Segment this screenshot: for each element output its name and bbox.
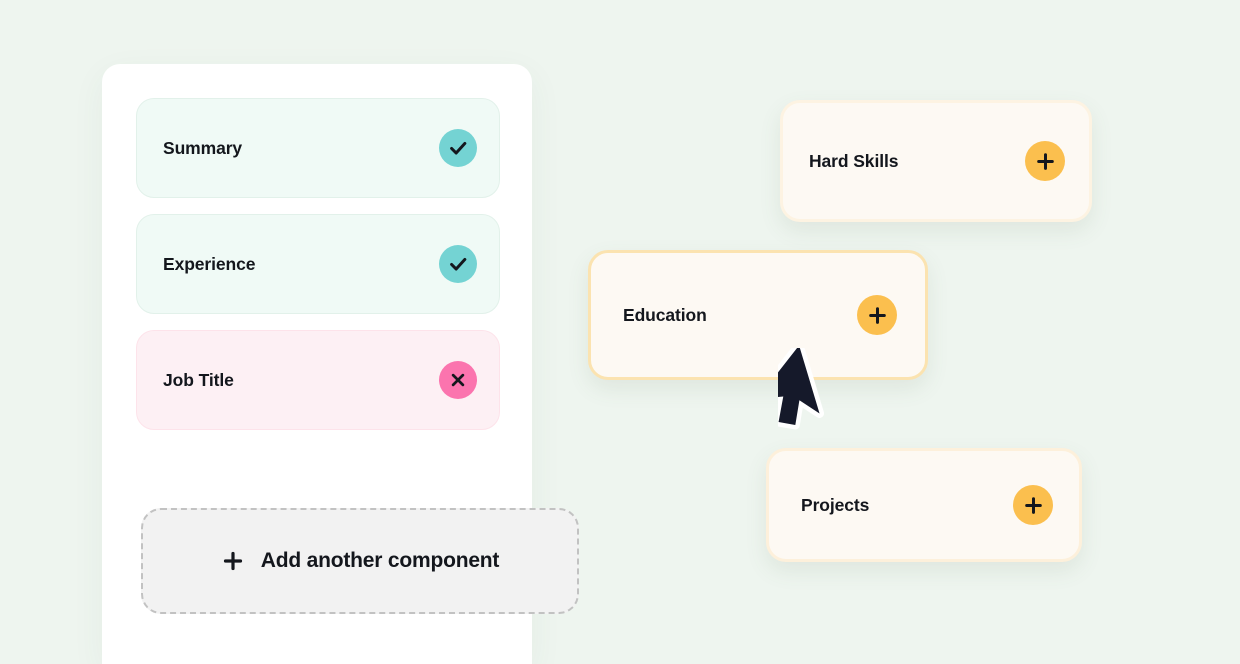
- available-component-label: Hard Skills: [809, 151, 898, 172]
- plus-icon[interactable]: [857, 295, 897, 335]
- check-icon[interactable]: [439, 245, 477, 283]
- resume-component-label: Job Title: [163, 370, 234, 391]
- resume-component-label: Experience: [163, 254, 255, 275]
- resume-component-label: Summary: [163, 138, 242, 159]
- add-another-component-button[interactable]: Add another component: [141, 508, 579, 614]
- plus-icon[interactable]: [1025, 141, 1065, 181]
- available-component-label: Education: [623, 305, 707, 326]
- plus-icon[interactable]: [1013, 485, 1053, 525]
- add-another-component-label: Add another component: [261, 549, 499, 573]
- available-component-label: Projects: [801, 495, 869, 516]
- close-icon[interactable]: [439, 361, 477, 399]
- plus-icon: [221, 549, 245, 573]
- available-component-projects[interactable]: Projects: [766, 448, 1082, 562]
- resume-component-summary[interactable]: Summary: [136, 98, 500, 198]
- available-component-education[interactable]: Education: [588, 250, 928, 380]
- check-icon[interactable]: [439, 129, 477, 167]
- resume-component-job-title[interactable]: Job Title: [136, 330, 500, 430]
- resume-component-experience[interactable]: Experience: [136, 214, 500, 314]
- app-canvas: Summary Experience Job Title: [0, 0, 1240, 640]
- available-component-hard-skills[interactable]: Hard Skills: [780, 100, 1092, 222]
